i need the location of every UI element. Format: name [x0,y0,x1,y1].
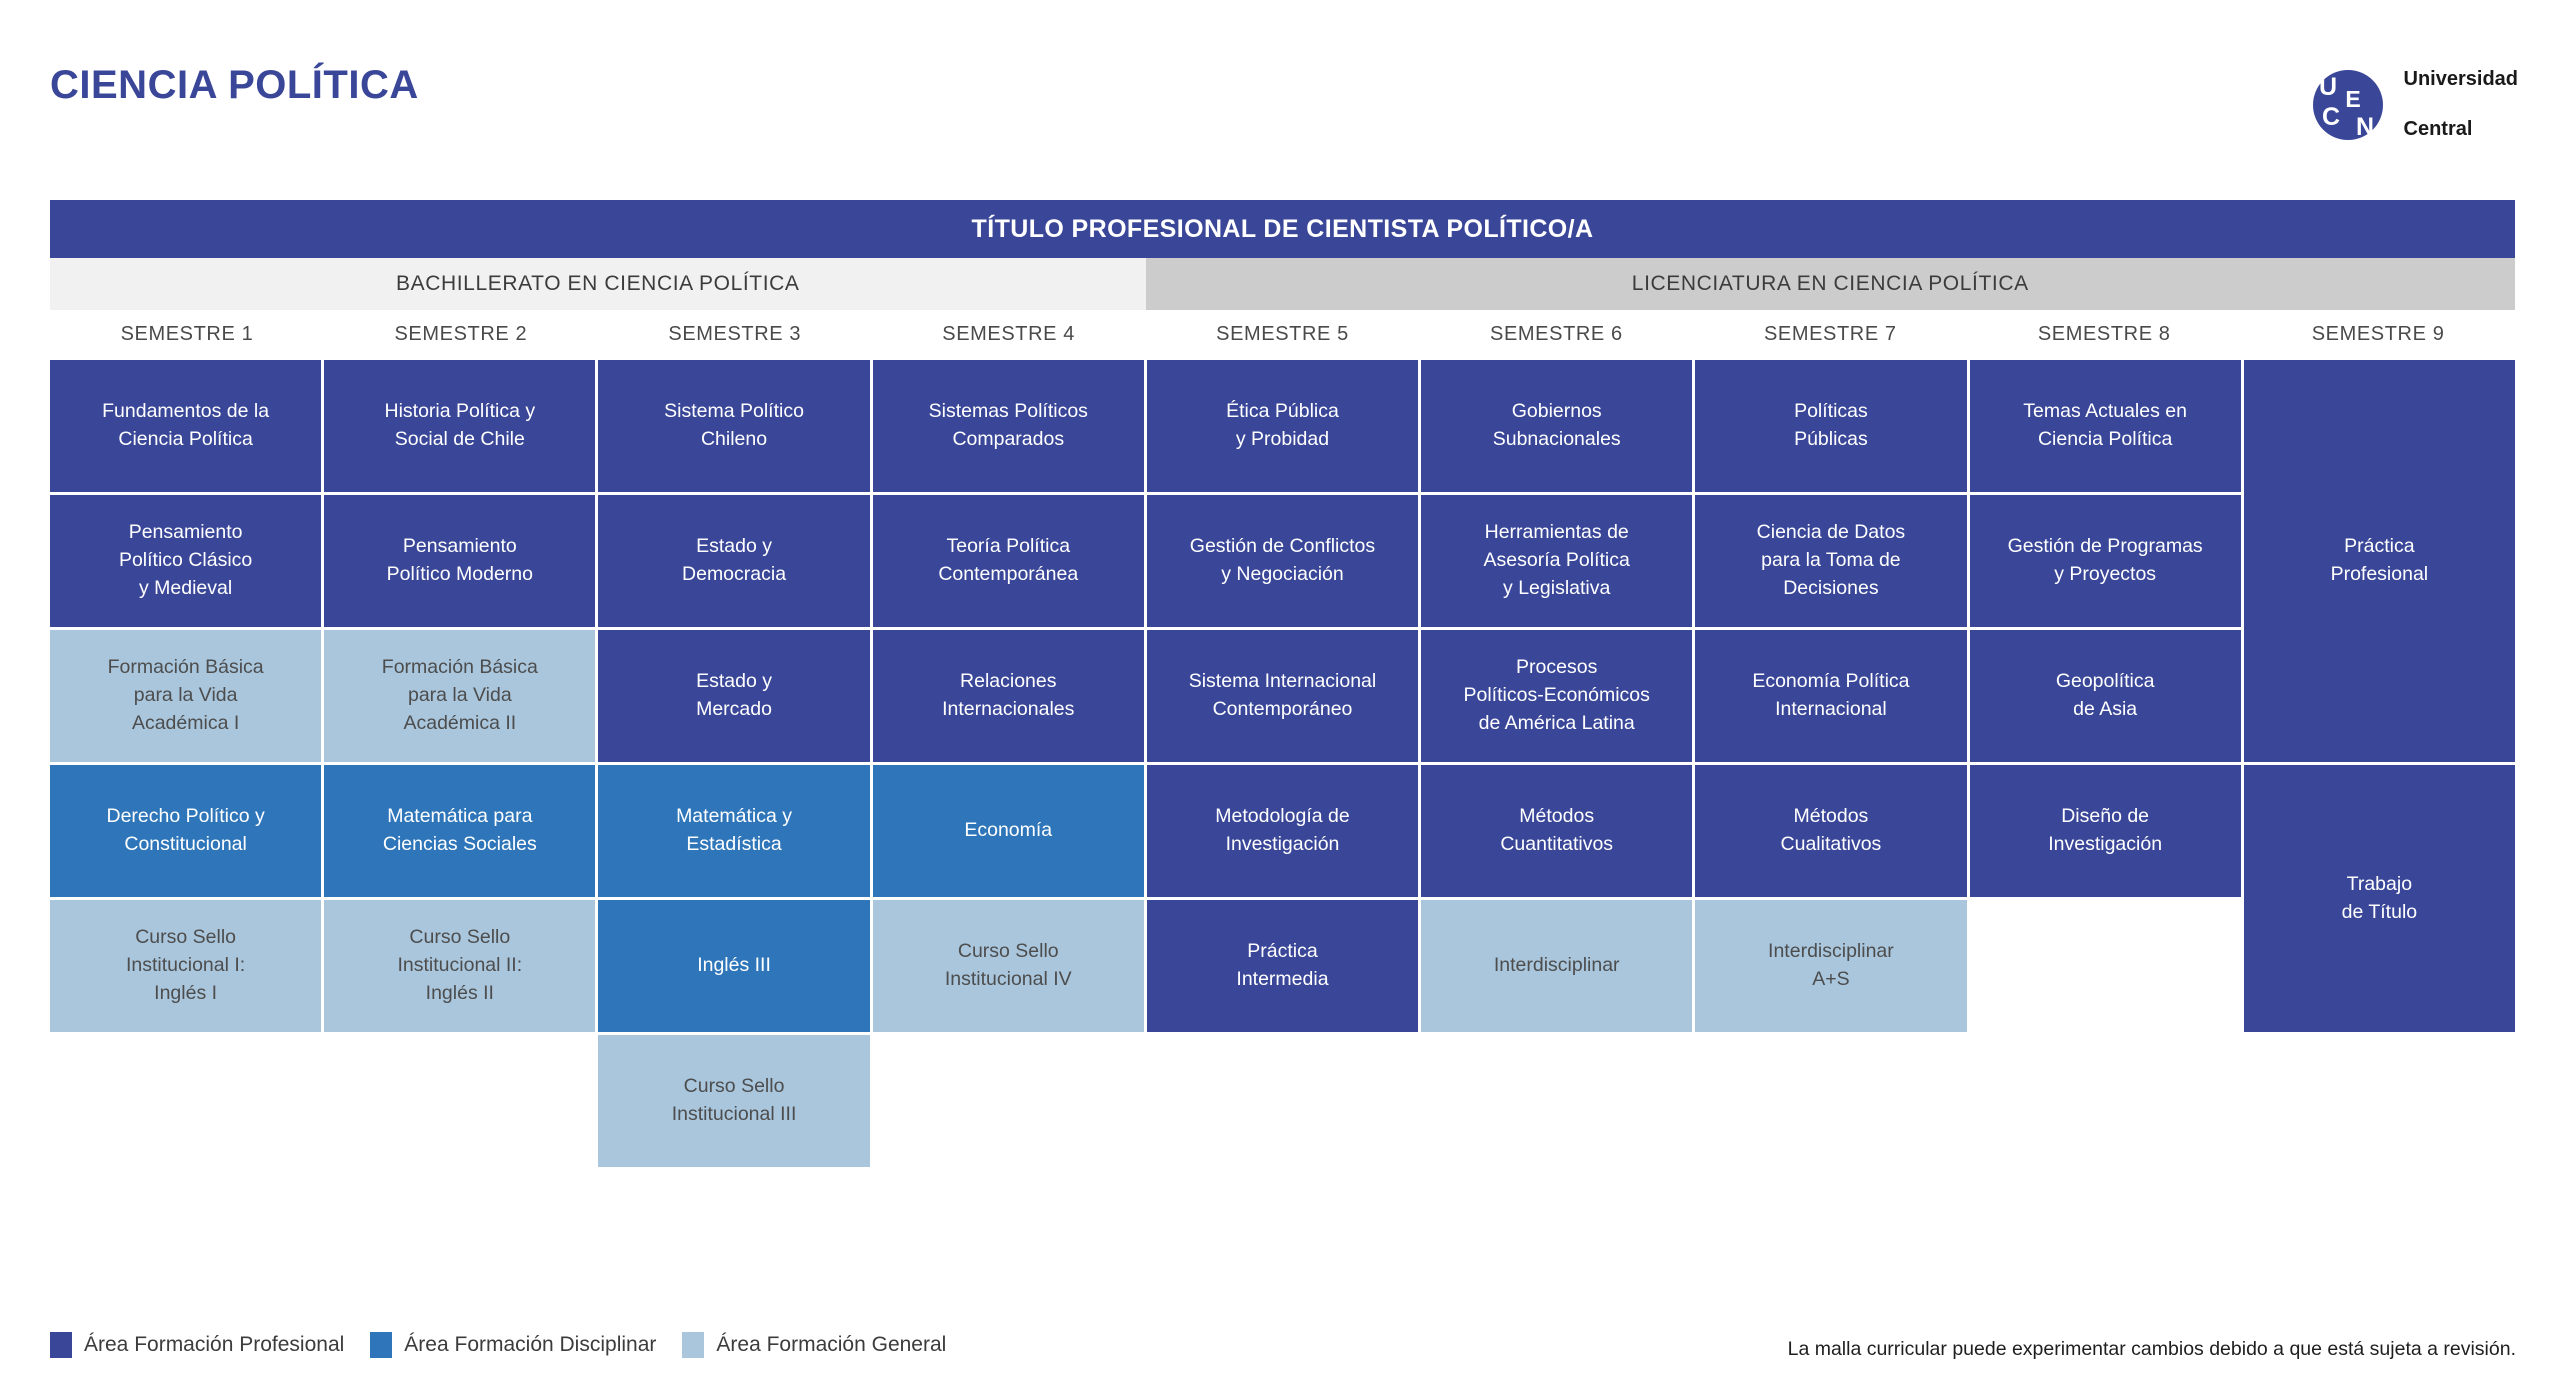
program-band-bachillerato: BACHILLERATO EN CIENCIA POLÍTICA [50,258,1146,310]
semester-column-9: Práctica ProfesionalTrabajo de Título [2244,360,2515,1167]
svg-text:U: U [2318,73,2336,101]
legend-item-general: Área Formación General [682,1332,946,1358]
svg-text:E: E [2345,86,2360,112]
course-cell[interactable]: Relaciones Internacionales [873,630,1144,762]
legend: Área Formación ProfesionalÁrea Formación… [50,1332,972,1358]
course-cell[interactable]: Temas Actuales en Ciencia Política [1970,360,2241,492]
curriculum-map: TÍTULO PROFESIONAL DE CIENTISTA POLÍTICO… [50,200,2515,1167]
university-wordmark: Universidad Central [2404,42,2518,167]
course-cell[interactable]: Economía Política Internacional [1695,630,1966,762]
course-cell[interactable]: Formación Básica para la Vida Académica … [324,630,595,762]
course-cell[interactable]: Gestión de Programas y Proyectos [1970,495,2241,627]
legend-label-general: Área Formación General [716,1333,946,1357]
semester-header-3: SEMESTRE 3 [598,310,872,358]
course-cell[interactable]: Procesos Políticos-Económicos de América… [1421,630,1692,762]
semester-header-4: SEMESTRE 4 [872,310,1146,358]
page-title: CIENCIA POLÍTICA [50,63,419,108]
semester-column-3: Sistema Político ChilenoEstado y Democra… [598,360,869,1167]
wordmark-line-1: Universidad [2404,67,2518,92]
course-cell[interactable]: Métodos Cuantitativos [1421,765,1692,897]
semester-column-6: Gobiernos SubnacionalesHerramientas de A… [1421,360,1692,1167]
course-cell[interactable]: Políticas Públicas [1695,360,1966,492]
semester-header-row: SEMESTRE 1SEMESTRE 2SEMESTRE 3SEMESTRE 4… [50,310,2515,358]
semester-header-9: SEMESTRE 9 [2241,310,2515,358]
course-cell[interactable]: Geopolítica de Asia [1970,630,2241,762]
legend-label-disciplinar: Área Formación Disciplinar [404,1333,656,1357]
disclaimer-text: La malla curricular puede experimentar c… [1788,1338,2516,1361]
course-cell[interactable]: Inglés III [598,900,869,1032]
semester-header-2: SEMESTRE 2 [324,310,598,358]
legend-swatch-disciplinar [370,1332,392,1358]
course-cell[interactable]: Métodos Cualitativos [1695,765,1966,897]
course-cell[interactable]: Matemática para Ciencias Sociales [324,765,595,897]
course-cell[interactable]: Formación Básica para la Vida Académica … [50,630,321,762]
course-cell[interactable]: Pensamiento Político Clásico y Medieval [50,495,321,627]
course-cell[interactable]: Gobiernos Subnacionales [1421,360,1692,492]
svg-text:N: N [2355,113,2373,141]
course-cell[interactable]: Economía [873,765,1144,897]
course-cell[interactable]: Estado y Mercado [598,630,869,762]
course-cell[interactable]: Sistema Político Chileno [598,360,869,492]
semester-column-7: Políticas PúblicasCiencia de Datos para … [1695,360,1966,1167]
semester-header-6: SEMESTRE 6 [1419,310,1693,358]
course-cell[interactable]: Matemática y Estadística [598,765,869,897]
course-cell[interactable]: Sistemas Políticos Comparados [873,360,1144,492]
legend-label-profesional: Área Formación Profesional [84,1333,344,1357]
course-cell[interactable]: Diseño de Investigación [1970,765,2241,897]
program-band-row: BACHILLERATO EN CIENCIA POLÍTICA LICENCI… [50,258,2515,310]
semester-header-7: SEMESTRE 7 [1693,310,1967,358]
course-cell[interactable]: Interdisciplinar [1421,900,1692,1032]
course-grid: Fundamentos de la Ciencia PolíticaPensam… [50,360,2515,1167]
course-cell[interactable]: Curso Sello Institucional III [598,1035,869,1167]
course-cell[interactable]: Derecho Político y Constitucional [50,765,321,897]
legend-swatch-profesional [50,1332,72,1358]
ucen-circle-logo-icon: U C E N [2308,65,2388,145]
legend-item-disciplinar: Área Formación Disciplinar [370,1332,656,1358]
course-cell[interactable]: Gestión de Conflictos y Negociación [1147,495,1418,627]
course-cell[interactable]: Interdisciplinar A+S [1695,900,1966,1032]
course-cell[interactable]: Práctica Profesional [2244,360,2515,762]
course-cell[interactable]: Herramientas de Asesoría Política y Legi… [1421,495,1692,627]
semester-column-4: Sistemas Políticos ComparadosTeoría Polí… [873,360,1144,1167]
semester-header-8: SEMESTRE 8 [1967,310,2241,358]
semester-column-8: Temas Actuales en Ciencia PolíticaGestió… [1970,360,2241,1167]
course-cell[interactable]: Trabajo de Título [2244,765,2515,1032]
legend-item-profesional: Área Formación Profesional [50,1332,344,1358]
course-cell[interactable]: Sistema Internacional Contemporáneo [1147,630,1418,762]
semester-column-2: Historia Política y Social de ChilePensa… [324,360,595,1167]
course-cell[interactable]: Curso Sello Institucional II: Inglés II [324,900,595,1032]
course-cell[interactable]: Ciencia de Datos para la Toma de Decisio… [1695,495,1966,627]
semester-header-1: SEMESTRE 1 [50,310,324,358]
course-cell[interactable]: Curso Sello Institucional IV [873,900,1144,1032]
course-cell[interactable]: Teoría Política Contemporánea [873,495,1144,627]
wordmark-line-2: Central [2404,117,2518,142]
course-cell[interactable]: Estado y Democracia [598,495,869,627]
course-cell[interactable]: Ética Pública y Probidad [1147,360,1418,492]
course-cell[interactable]: Curso Sello Institucional I: Inglés I [50,900,321,1032]
semester-header-5: SEMESTRE 5 [1146,310,1420,358]
semester-column-5: Ética Pública y ProbidadGestión de Confl… [1147,360,1418,1167]
course-cell[interactable]: Pensamiento Político Moderno [324,495,595,627]
university-logo: U C E N Universidad Central [2308,42,2518,167]
svg-text:C: C [2321,103,2339,131]
program-band-licenciatura: LICENCIATURA EN CIENCIA POLÍTICA [1146,258,2516,310]
course-cell[interactable]: Historia Política y Social de Chile [324,360,595,492]
legend-swatch-general [682,1332,704,1358]
degree-title-banner: TÍTULO PROFESIONAL DE CIENTISTA POLÍTICO… [50,200,2515,258]
semester-column-1: Fundamentos de la Ciencia PolíticaPensam… [50,360,321,1167]
course-cell[interactable]: Práctica Intermedia [1147,900,1418,1032]
course-cell[interactable]: Fundamentos de la Ciencia Política [50,360,321,492]
course-cell[interactable]: Metodología de Investigación [1147,765,1418,897]
